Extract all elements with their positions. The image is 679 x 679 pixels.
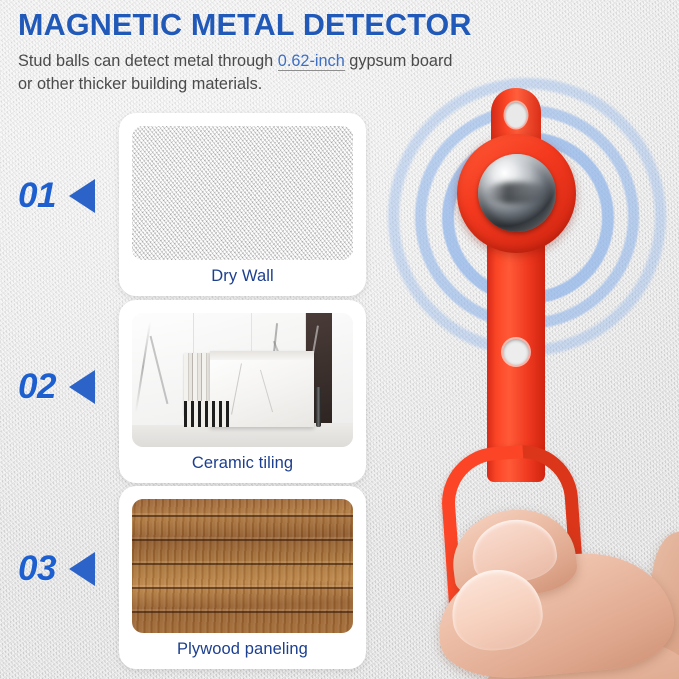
card-caption: Ceramic tiling — [192, 447, 293, 483]
hand-holding-product — [416, 492, 679, 679]
material-card-plywood[interactable]: Plywood paneling — [119, 486, 366, 669]
step-marker-03: 03 — [18, 551, 95, 586]
triangle-left-icon — [69, 179, 95, 213]
step-number: 03 — [18, 551, 56, 586]
material-card-ceramic[interactable]: Ceramic tiling — [119, 300, 366, 483]
thickness-highlight: 0.62-inch — [278, 52, 345, 71]
triangle-left-icon — [69, 370, 95, 404]
step-marker-02: 02 — [18, 369, 95, 404]
subtitle-text-before: Stud balls can detect metal through — [18, 52, 278, 70]
ball-reflection — [484, 182, 550, 204]
drywall-texture-image — [132, 126, 353, 260]
material-card-drywall[interactable]: Dry Wall — [119, 113, 366, 296]
ceramic-tile-image — [132, 313, 353, 447]
step-marker-01: 01 — [18, 178, 95, 213]
triangle-left-icon — [69, 552, 95, 586]
strap-grommet-hole — [503, 339, 529, 365]
infographic-page: MAGNETIC METAL DETECTOR Stud balls can d… — [0, 0, 679, 679]
step-number: 01 — [18, 178, 56, 213]
page-subtitle: Stud balls can detect metal through 0.62… — [18, 50, 466, 96]
wood-plank-image — [132, 499, 353, 633]
step-number: 02 — [18, 369, 56, 404]
keyring-hole-icon — [505, 102, 527, 128]
card-caption: Plywood paneling — [177, 633, 308, 669]
product-illustration — [386, 74, 679, 679]
card-caption: Dry Wall — [211, 260, 274, 296]
page-title: MAGNETIC METAL DETECTOR — [18, 8, 488, 43]
header: MAGNETIC METAL DETECTOR Stud balls can d… — [18, 8, 488, 96]
